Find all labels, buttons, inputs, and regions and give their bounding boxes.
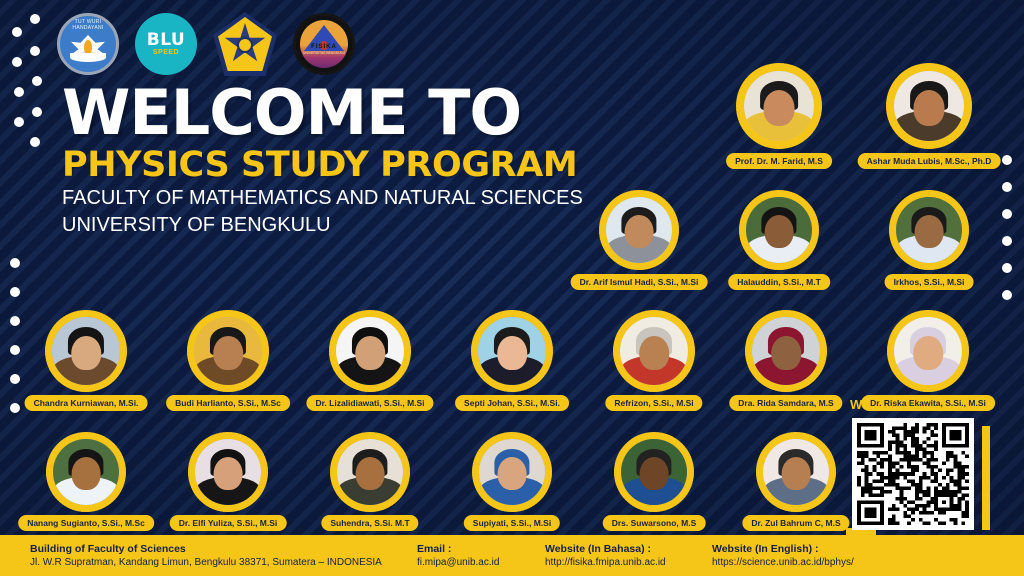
person-portrait xyxy=(763,439,829,505)
person-name-tag: Dr. Zul Bahrum C, M.S xyxy=(742,515,849,531)
headline-block: WELCOME TO PHYSICS STUDY PROGRAM FACULTY… xyxy=(62,84,583,237)
person-name-tag: Prof. Dr. M. Farid, M.S xyxy=(726,153,832,169)
person-portrait xyxy=(752,317,820,385)
person-card[interactable]: Nanang Sugianto, S.Si., M.Sc xyxy=(46,432,126,512)
university-subtitle: UNIVERSITY OF BENGKULU xyxy=(62,214,583,237)
fisika-logo-subtext: UNIVERSITAS BENGKULU xyxy=(300,51,348,56)
person-photo-frame xyxy=(756,432,836,512)
person-portrait xyxy=(194,317,262,385)
decorative-dot xyxy=(1002,236,1012,246)
qr-frame xyxy=(852,418,982,530)
person-card[interactable]: Dr. Arif Ismul Hadi, S.Si., M.Si xyxy=(599,190,679,270)
person-card[interactable]: Drs. Suwarsono, M.S xyxy=(614,432,694,512)
person-name-tag: Dr. Lizalidiawati, S.Si., M.Si xyxy=(306,395,433,411)
footer-email-column: Email : fi.mipa@unib.ac.id xyxy=(417,542,499,570)
decorative-dot xyxy=(32,107,42,117)
footer-website-english-title: Website (In English) : xyxy=(712,542,854,556)
decorative-dot xyxy=(1002,209,1012,219)
logo-row: TUT WURI HANDAYANI BLU SPEED FISIKA UNIV… xyxy=(57,12,355,76)
decorative-dot xyxy=(32,76,42,86)
kemendikbud-logo: TUT WURI HANDAYANI xyxy=(57,13,119,75)
person-photo-frame xyxy=(886,63,972,149)
person-card[interactable]: Dra. Rida Samdara, M.S xyxy=(745,310,827,392)
person-photo-frame xyxy=(46,432,126,512)
footer-email-body[interactable]: fi.mipa@unib.ac.id xyxy=(417,556,499,570)
footer-email-title: Email : xyxy=(417,542,499,556)
person-photo-frame xyxy=(472,432,552,512)
decorative-dot xyxy=(10,287,20,297)
person-portrait xyxy=(52,317,120,385)
person-name-tag: Chandra Kurniawan, M.Si. xyxy=(25,395,148,411)
footer-website-english-link[interactable]: https://science.unib.ac.id/bphys/ xyxy=(712,556,854,570)
person-card[interactable]: Ashar Muda Lubis, M.Sc., Ph.D xyxy=(886,63,972,149)
person-photo-frame xyxy=(613,310,695,392)
footer-website-english-column: Website (In English) : https://science.u… xyxy=(712,542,854,570)
person-portrait xyxy=(478,317,546,385)
person-photo-frame xyxy=(736,63,822,149)
person-portrait xyxy=(336,317,404,385)
decorative-dot xyxy=(1002,182,1012,192)
person-photo-frame xyxy=(45,310,127,392)
person-name-tag: Dra. Rida Samdara, M.S xyxy=(729,395,842,411)
welcome-title: WELCOME TO xyxy=(62,84,583,143)
poster-canvas: TUT WURI HANDAYANI BLU SPEED FISIKA UNIV… xyxy=(0,0,1024,576)
person-photo-frame xyxy=(330,432,410,512)
decorative-dot xyxy=(10,345,20,355)
person-portrait xyxy=(195,439,261,505)
blu-logo-subtext: SPEED xyxy=(153,49,179,56)
person-card[interactable]: Septi Johan, S.Si., M.Si. xyxy=(471,310,553,392)
footer-website-bahasa-link[interactable]: http://fisika.fmipa.unib.ac.id xyxy=(545,556,666,570)
person-portrait xyxy=(53,439,119,505)
person-card[interactable]: Dr. Riska Ekawita, S.Si., M.Si xyxy=(887,310,969,392)
person-photo-frame xyxy=(471,310,553,392)
decorative-dot xyxy=(12,27,22,37)
decorative-dot xyxy=(10,403,20,413)
footer-address-column: Building of Faculty of Sciences Jl. W.R … xyxy=(30,542,382,570)
person-photo-frame xyxy=(889,190,969,270)
decorative-dot xyxy=(1002,155,1012,165)
qr-code-image[interactable] xyxy=(857,423,969,525)
decorative-dot xyxy=(30,46,40,56)
person-portrait xyxy=(621,439,687,505)
person-portrait xyxy=(479,439,545,505)
person-card[interactable]: Budi Harlianto, S.Si., M.Sc xyxy=(187,310,269,392)
footer-address-title: Building of Faculty of Sciences xyxy=(30,542,382,556)
decorative-dot xyxy=(12,57,22,67)
person-portrait xyxy=(337,439,403,505)
person-photo-frame xyxy=(188,432,268,512)
universitas-bengkulu-logo xyxy=(213,12,277,76)
person-card[interactable]: Dr. Lizalidiawati, S.Si., M.Si xyxy=(329,310,411,392)
person-name-tag: Drs. Suwarsono, M.S xyxy=(603,515,706,531)
fisika-logo: FISIKA UNIVERSITAS BENGKULU xyxy=(293,13,355,75)
qr-accent-bar-right xyxy=(982,426,990,530)
person-name-tag: Irkhos, S.Si., M.Si xyxy=(885,274,974,290)
person-card[interactable]: Irkhos, S.Si., M.Si xyxy=(889,190,969,270)
person-card[interactable]: Chandra Kurniawan, M.Si. xyxy=(45,310,127,392)
person-portrait xyxy=(894,317,962,385)
decorative-dot xyxy=(10,258,20,268)
person-portrait xyxy=(746,197,812,263)
person-name-tag: Dr. Riska Ekawita, S.Si., M.Si xyxy=(861,395,995,411)
person-card[interactable]: Refrizon, S.Si., M.Si xyxy=(613,310,695,392)
person-photo-frame xyxy=(745,310,827,392)
footer-address-body: Jl. W.R Supratman, Kandang Limun, Bengku… xyxy=(30,556,382,570)
person-portrait xyxy=(744,71,814,141)
person-name-tag: Ashar Muda Lubis, M.Sc., Ph.D xyxy=(858,153,1001,169)
person-photo-frame xyxy=(329,310,411,392)
blu-logo-text: BLU xyxy=(147,32,186,49)
person-photo-frame xyxy=(887,310,969,392)
decorative-dot xyxy=(14,117,24,127)
faculty-subtitle: FACULTY OF MATHEMATICS AND NATURAL SCIEN… xyxy=(62,187,583,210)
person-photo-frame xyxy=(614,432,694,512)
person-name-tag: Supiyati, S.Si., M.Si xyxy=(464,515,560,531)
decorative-dot xyxy=(10,374,20,384)
person-portrait xyxy=(606,197,672,263)
person-photo-frame xyxy=(599,190,679,270)
decorative-dot xyxy=(30,14,40,24)
person-name-tag: Dr. Arif Ismul Hadi, S.Si., M.Si xyxy=(571,274,708,290)
decorative-dot xyxy=(30,137,40,147)
fisika-logo-text: FISIKA xyxy=(300,44,348,50)
person-card[interactable]: Supiyati, S.Si., M.Si xyxy=(472,432,552,512)
footer-bar: Building of Faculty of Sciences Jl. W.R … xyxy=(0,535,1024,576)
person-photo-frame xyxy=(739,190,819,270)
person-portrait xyxy=(894,71,964,141)
decorative-dot xyxy=(10,316,20,326)
person-name-tag: Septi Johan, S.Si., M.Si. xyxy=(455,395,569,411)
footer-website-bahasa-column: Website (In Bahasa) : http://fisika.fmip… xyxy=(545,542,666,570)
person-name-tag: Refrizon, S.Si., M.Si xyxy=(605,395,702,411)
program-title: PHYSICS STUDY PROGRAM xyxy=(62,147,583,185)
blu-logo: BLU SPEED xyxy=(135,13,197,75)
person-photo-frame xyxy=(187,310,269,392)
person-name-tag: Suhendra, S.Si. M.T xyxy=(321,515,418,531)
qr-block: Website Address : xyxy=(846,397,996,530)
person-name-tag: Budi Harlianto, S.Si., M.Sc xyxy=(166,395,290,411)
person-card[interactable]: Halauddin, S.Si., M.T xyxy=(739,190,819,270)
qr-code-box[interactable] xyxy=(852,418,974,530)
footer-website-bahasa-title: Website (In Bahasa) : xyxy=(545,542,666,556)
person-card[interactable]: Suhendra, S.Si. M.T xyxy=(330,432,410,512)
person-card[interactable]: Dr. Elfi Yuliza, S.Si., M.Si xyxy=(188,432,268,512)
person-name-tag: Nanang Sugianto, S.Si., M.Sc xyxy=(18,515,154,531)
decorative-dot xyxy=(1002,290,1012,300)
person-portrait xyxy=(896,197,962,263)
decorative-dot xyxy=(14,87,24,97)
person-name-tag: Dr. Elfi Yuliza, S.Si., M.Si xyxy=(170,515,287,531)
person-portrait xyxy=(620,317,688,385)
decorative-dot xyxy=(1002,263,1012,273)
person-card[interactable]: Dr. Zul Bahrum C, M.S xyxy=(756,432,836,512)
person-name-tag: Halauddin, S.Si., M.T xyxy=(728,274,830,290)
person-card[interactable]: Prof. Dr. M. Farid, M.S xyxy=(736,63,822,149)
